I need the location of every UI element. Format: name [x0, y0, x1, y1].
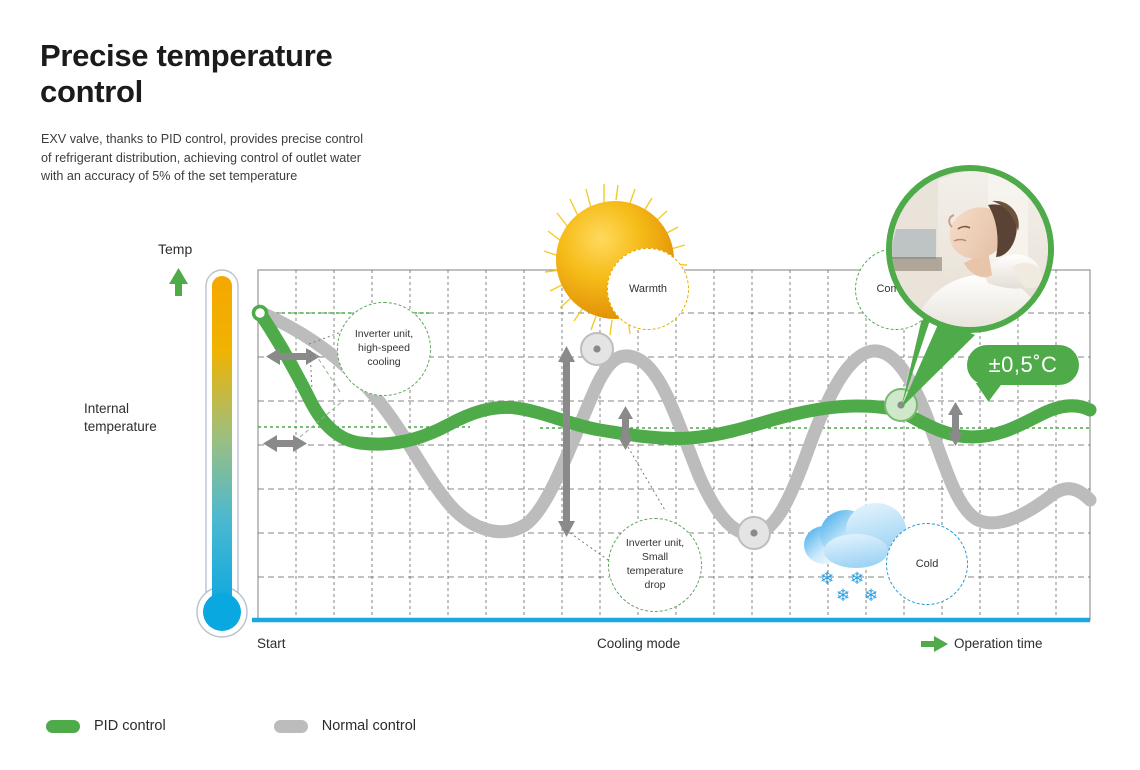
svg-text:❄: ❄ — [850, 569, 864, 589]
svg-text:❄: ❄ — [864, 586, 878, 606]
x-axis-start-label: Start — [257, 636, 286, 651]
x-axis-end-label: Operation time — [954, 636, 1043, 651]
temp-up-arrow-icon — [169, 268, 188, 296]
legend-label-pid: PID control — [94, 718, 166, 734]
chart-legend: PID control Normal control — [46, 718, 416, 734]
comfort-photo-image — [892, 171, 1054, 333]
y-axis-top-label: Temp — [158, 241, 192, 257]
svg-text:❄: ❄ — [820, 569, 834, 589]
x-axis-middle-label: Cooling mode — [597, 636, 680, 651]
callout-inverter-small-drop: Inverter unit, Small temperature drop — [608, 518, 702, 612]
y-axis-label: Internal temperature — [84, 400, 204, 436]
operation-time-arrow-icon — [921, 636, 948, 652]
legend-item-pid: PID control — [46, 718, 166, 734]
callout-inverter-high-speed: Inverter unit, high-speed cooling — [337, 302, 431, 396]
infographic-canvas: Precise temperature control EXV valve, t… — [0, 0, 1140, 770]
callout-warmth: Warmth — [607, 248, 689, 330]
arrow-horizontal-lower — [263, 435, 307, 452]
legend-item-normal: Normal control — [274, 718, 416, 734]
legend-swatch-normal — [274, 720, 308, 733]
snowflakes: ❄ ❄ ❄ ❄ — [820, 569, 878, 606]
comfort-photo — [886, 165, 1054, 333]
start-point-marker — [254, 307, 267, 320]
legend-swatch-pid — [46, 720, 80, 733]
accuracy-badge: ±0,5˚C — [967, 345, 1079, 385]
thermometer-icon — [197, 270, 247, 637]
legend-label-normal: Normal control — [322, 718, 416, 734]
callout-cold: Cold — [886, 523, 968, 605]
chart-svg: ❄ ❄ ❄ ❄ — [0, 0, 1140, 770]
svg-text:❄: ❄ — [836, 586, 850, 606]
